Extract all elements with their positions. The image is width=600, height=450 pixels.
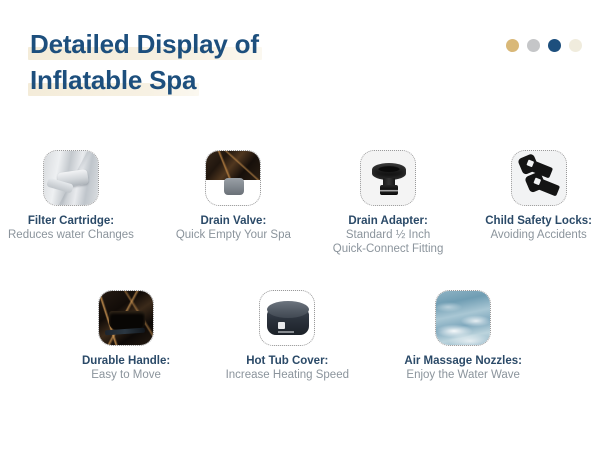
durable-handle-icon	[99, 291, 153, 345]
feature-row-2: Durable Handle: Easy to Move Hot Tub Cov…	[82, 290, 522, 382]
handle-bar	[105, 328, 145, 336]
filter-cartridge-image	[43, 150, 99, 206]
feature-caption: Drain Valve: Quick Empty Your Spa	[176, 214, 291, 242]
title-line-2: Inflatable Spa	[28, 64, 199, 97]
feature-subtitle: Reduces water Changes	[8, 228, 134, 242]
valve-stem	[224, 178, 244, 195]
feature-subtitle-line-2: Quick-Connect Fitting	[333, 242, 444, 256]
feature-item-filter-cartridge: Filter Cartridge: Reduces water Changes	[8, 150, 134, 242]
title-line-1: Detailed Display of	[28, 28, 262, 61]
feature-subtitle: Standard ½ Inch	[333, 228, 444, 242]
title-line-1-text: Detailed Display of	[30, 29, 259, 59]
feature-caption: Hot Tub Cover: Increase Heating Speed	[226, 354, 349, 382]
feature-item-hot-tub-cover: Hot Tub Cover: Increase Heating Speed	[226, 290, 349, 382]
feature-title: Air Massage Nozzles:	[404, 354, 522, 368]
page-title: Detailed Display of Inflatable Spa	[28, 28, 580, 100]
feature-title: Drain Valve:	[176, 214, 291, 228]
feature-caption: Air Massage Nozzles: Enjoy the Water Wav…	[404, 354, 522, 382]
key-icon	[531, 177, 559, 197]
drain-adapter-icon	[361, 151, 415, 205]
feature-subtitle: Easy to Move	[82, 368, 170, 382]
hot-tub-cover-icon	[260, 291, 314, 345]
feature-item-durable-handle: Durable Handle: Easy to Move	[82, 290, 170, 382]
cover-badge	[278, 322, 285, 329]
feature-title: Filter Cartridge:	[8, 214, 134, 228]
slide-header: Detailed Display of Inflatable Spa	[28, 28, 580, 100]
feature-title: Drain Adapter:	[333, 214, 444, 228]
feature-title: Child Safety Locks:	[485, 214, 592, 228]
dot-navy-icon	[548, 39, 561, 52]
feature-subtitle: Quick Empty Your Spa	[176, 228, 291, 242]
dot-cream-icon	[569, 39, 582, 52]
feature-caption: Filter Cartridge: Reduces water Changes	[8, 214, 134, 242]
child-safety-locks-image	[511, 150, 567, 206]
feature-subtitle: Enjoy the Water Wave	[404, 368, 522, 382]
adapter-collar	[380, 185, 398, 195]
hot-tub-cover-image	[259, 290, 315, 346]
drain-valve-image	[205, 150, 261, 206]
feature-row-1: Filter Cartridge: Reduces water Changes …	[0, 150, 600, 256]
feature-subtitle: Avoiding Accidents	[485, 228, 592, 242]
feature-subtitle: Increase Heating Speed	[226, 368, 349, 382]
valve-marble-top	[205, 150, 261, 180]
filter-cartridge-icon	[44, 151, 98, 205]
air-massage-nozzles-image	[435, 290, 491, 346]
durable-handle-image	[98, 290, 154, 346]
dot-gray-icon	[527, 39, 540, 52]
feature-item-drain-adapter: Drain Adapter: Standard ½ Inch Quick-Con…	[333, 150, 444, 256]
feature-title: Durable Handle:	[82, 354, 170, 368]
feature-item-air-massage-nozzles: Air Massage Nozzles: Enjoy the Water Wav…	[404, 290, 522, 382]
drain-adapter-image	[360, 150, 416, 206]
water-wave-icon	[436, 291, 490, 345]
drain-valve-icon	[206, 151, 260, 205]
title-line-2-text: Inflatable Spa	[30, 65, 196, 95]
feature-item-child-safety-locks: Child Safety Locks: Avoiding Accidents	[485, 150, 592, 242]
child-safety-locks-icon	[512, 151, 566, 205]
feature-caption: Durable Handle: Easy to Move	[82, 354, 170, 382]
feature-title: Hot Tub Cover:	[226, 354, 349, 368]
decorative-dots	[506, 39, 582, 52]
feature-caption: Child Safety Locks: Avoiding Accidents	[485, 214, 592, 242]
dot-tan-icon	[506, 39, 519, 52]
feature-item-drain-valve: Drain Valve: Quick Empty Your Spa	[176, 150, 291, 242]
product-feature-slide: Detailed Display of Inflatable Spa Filte…	[0, 0, 600, 450]
feature-caption: Drain Adapter: Standard ½ Inch Quick-Con…	[333, 214, 444, 256]
